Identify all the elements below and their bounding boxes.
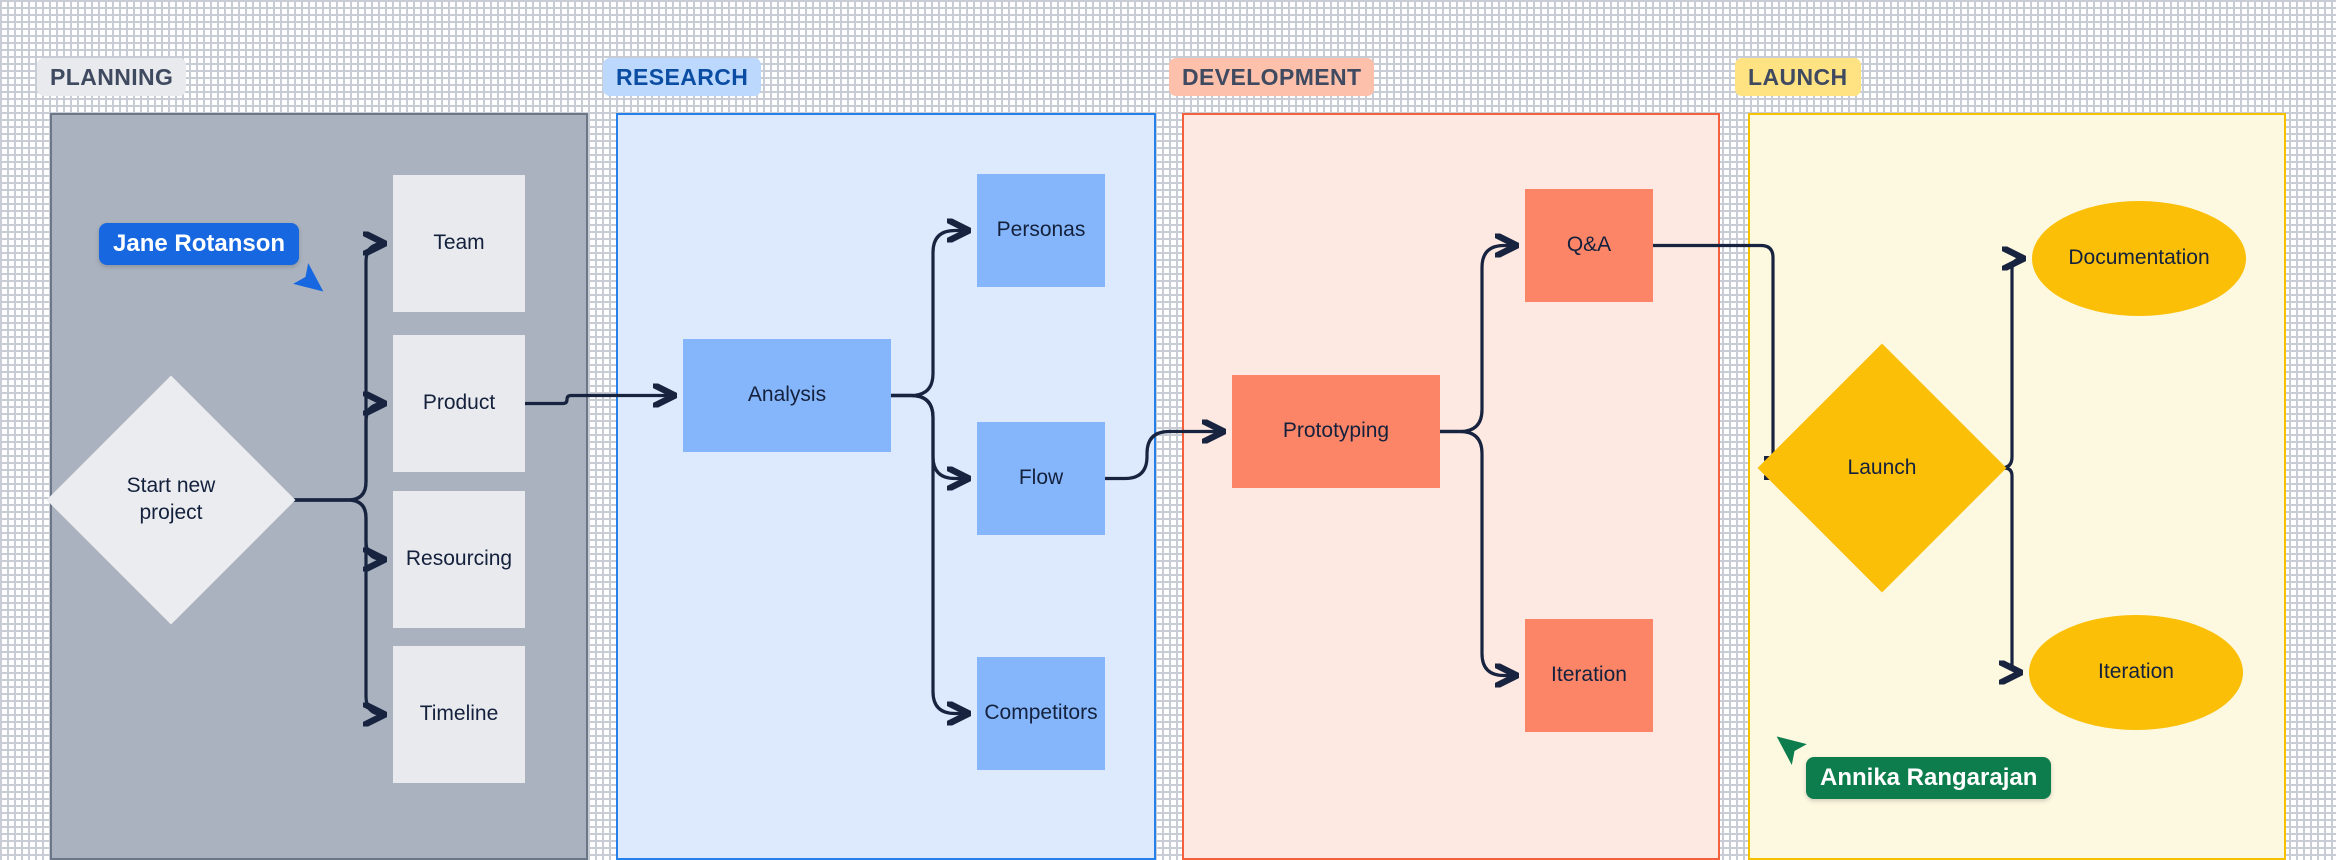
node-iteration_lnc[interactable]: Iteration xyxy=(2029,615,2243,730)
node-resourcing[interactable]: Resourcing xyxy=(393,491,525,628)
node-timeline[interactable]: Timeline xyxy=(393,646,525,783)
node-label: Team xyxy=(433,230,484,257)
swimlane-label-launch[interactable]: LAUNCH xyxy=(1735,58,1861,96)
node-start[interactable]: Start new project xyxy=(83,412,259,588)
node-label: Launch xyxy=(1794,380,1970,556)
whiteboard-canvas[interactable]: Start new projectTeamProductResourcingTi… xyxy=(0,0,2336,860)
node-team[interactable]: Team xyxy=(393,175,525,312)
node-label: Competitors xyxy=(984,700,1097,727)
node-product[interactable]: Product xyxy=(393,335,525,472)
node-qa[interactable]: Q&A xyxy=(1525,189,1653,302)
node-label: Resourcing xyxy=(406,546,512,573)
node-label: Q&A xyxy=(1567,232,1611,259)
node-prototyping[interactable]: Prototyping xyxy=(1232,375,1440,488)
node-competitors[interactable]: Competitors xyxy=(977,657,1105,770)
node-documentation[interactable]: Documentation xyxy=(2032,201,2246,316)
node-label: Analysis xyxy=(748,382,826,409)
swimlane-label-research[interactable]: RESEARCH xyxy=(603,58,761,96)
cursor-name-badge-jane: Jane Rotanson xyxy=(99,223,299,265)
swimlane-label-development[interactable]: DEVELOPMENT xyxy=(1169,58,1374,96)
cursor-pointer-icon-jane xyxy=(288,262,322,303)
node-label: Start new project xyxy=(83,412,259,588)
swimlane-label-planning[interactable]: PLANNING xyxy=(37,58,186,96)
grid-line-vertical xyxy=(1172,0,1173,860)
node-iteration_dev[interactable]: Iteration xyxy=(1525,619,1653,732)
node-label: Personas xyxy=(997,217,1086,244)
node-personas[interactable]: Personas xyxy=(977,174,1105,287)
node-label: Iteration xyxy=(2098,659,2174,686)
cursor-pointer-icon-annika xyxy=(1778,730,1812,771)
node-label: Timeline xyxy=(420,701,499,728)
node-label: Iteration xyxy=(1551,662,1627,689)
node-label: Prototyping xyxy=(1283,418,1389,445)
cursor-name-badge-annika: Annika Rangarajan xyxy=(1806,757,2051,799)
node-flow[interactable]: Flow xyxy=(977,422,1105,535)
node-label: Flow xyxy=(1019,465,1063,492)
node-analysis[interactable]: Analysis xyxy=(683,339,891,452)
node-label: Product xyxy=(423,390,495,417)
node-label: Documentation xyxy=(2068,245,2209,272)
node-launch[interactable]: Launch xyxy=(1794,380,1970,556)
